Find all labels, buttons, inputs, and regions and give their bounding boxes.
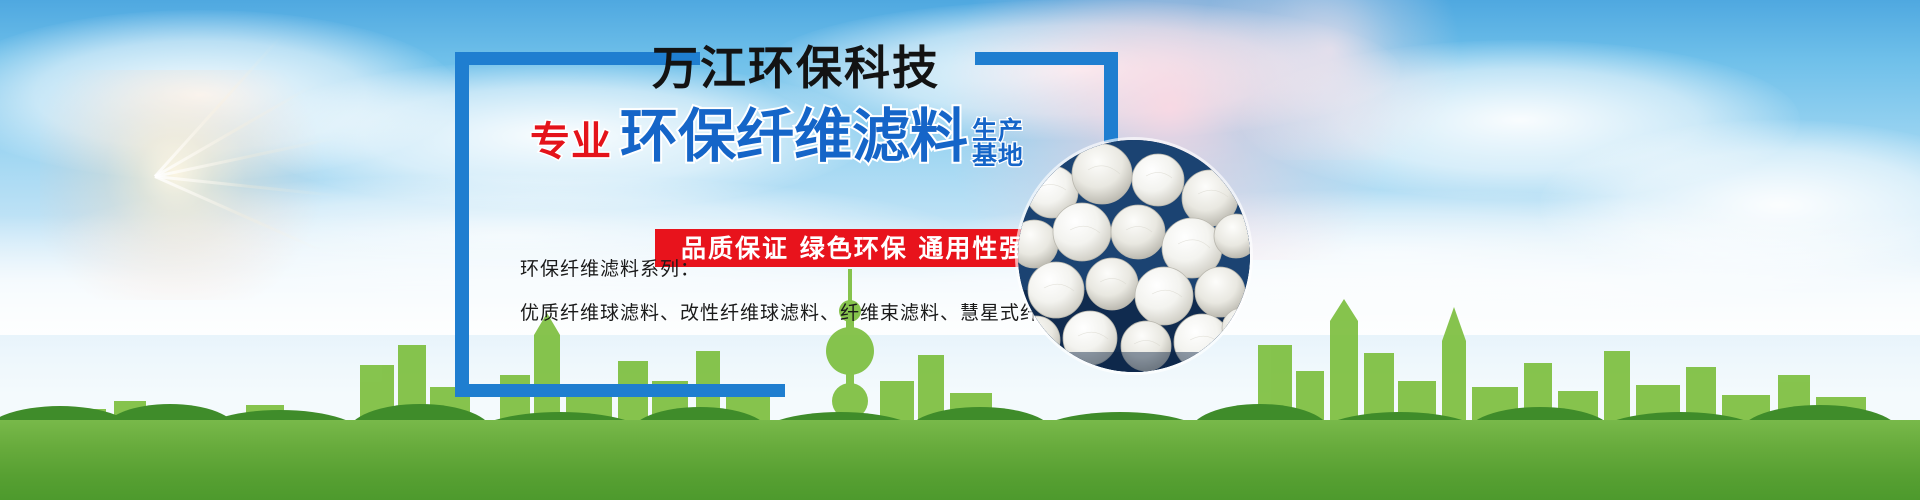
description-line-2: 优质纤维球滤料、改性纤维球滤料、纤维束滤料、慧星式纤维滤料 [520,302,1100,324]
headline-main: 环保纤维滤料 [620,106,968,166]
description-line-1: 环保纤维滤料系列： [520,258,1100,280]
headline-suffix-top: 生产 [972,118,1024,143]
headline-prefix: 专业 [530,120,612,164]
headline-suffix-bottom: 基地 [972,143,1024,168]
product-photo [1018,140,1250,372]
promo-banner: 万江环保科技 专业 环保纤维滤料 生产 基地 品质保证 绿色环保 通用性强 操作… [0,0,1920,500]
description-block: 环保纤维滤料系列： 优质纤维球滤料、改性纤维球滤料、纤维束滤料、慧星式纤维滤料 [520,258,1100,324]
grass-field [0,420,1920,500]
headline-group: 专业 环保纤维滤料 生产 基地 [530,104,1024,166]
company-title: 万江环保科技 [652,42,940,94]
headline-suffix-group: 生产 基地 [972,118,1024,168]
fiber-ball-photo-graphic [1018,140,1250,372]
